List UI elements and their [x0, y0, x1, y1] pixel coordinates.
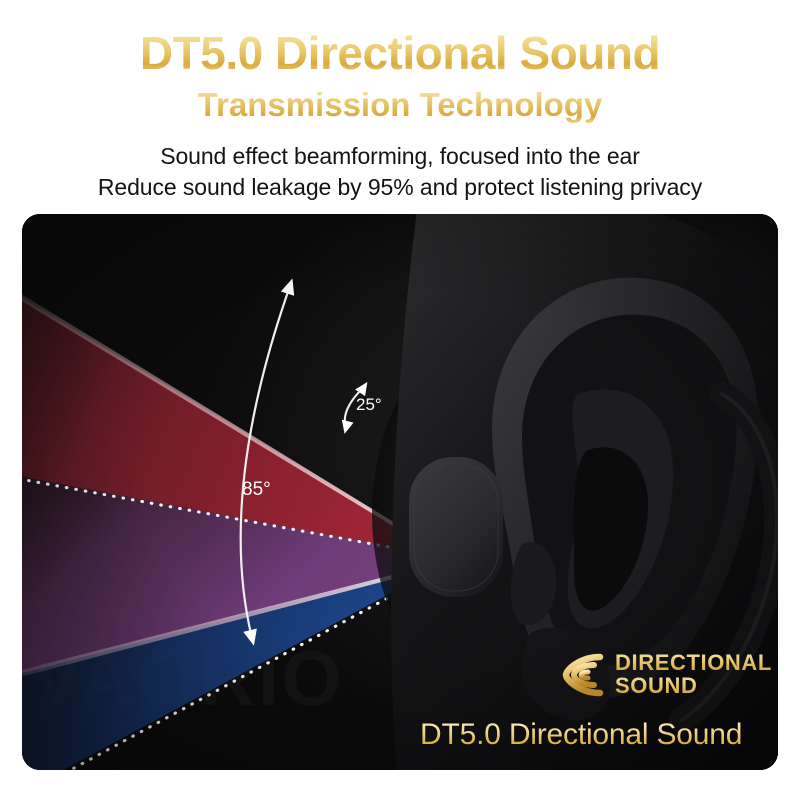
- angle-25-arrowhead-bottom: [339, 420, 354, 436]
- page-subtitle: Transmission Technology: [0, 88, 800, 123]
- product-feature-page: DT5.0 Directional Sound Transmission Tec…: [0, 0, 800, 800]
- badge-line-1: DIRECTIONAL: [615, 652, 772, 675]
- angle-85-arrowhead-top: [281, 276, 299, 296]
- tagline-line-1: Sound effect beamforming, focused into t…: [0, 143, 800, 170]
- diagram-panel: VAORIO: [22, 214, 778, 770]
- angle-85-label: 85°: [242, 479, 271, 500]
- sound-waves-icon: [554, 652, 604, 698]
- page-title: DT5.0 Directional Sound: [0, 30, 800, 77]
- badge-line-2: SOUND: [615, 675, 772, 698]
- angle-25-label: 25°: [356, 395, 382, 414]
- badge-words: DIRECTIONAL SOUND: [615, 652, 772, 697]
- directional-sound-badge: DIRECTIONAL SOUND: [554, 652, 772, 698]
- bottom-tagline: DT5.0 Directional Sound: [420, 718, 742, 752]
- tagline-line-2: Reduce sound leakage by 95% and protect …: [0, 174, 800, 201]
